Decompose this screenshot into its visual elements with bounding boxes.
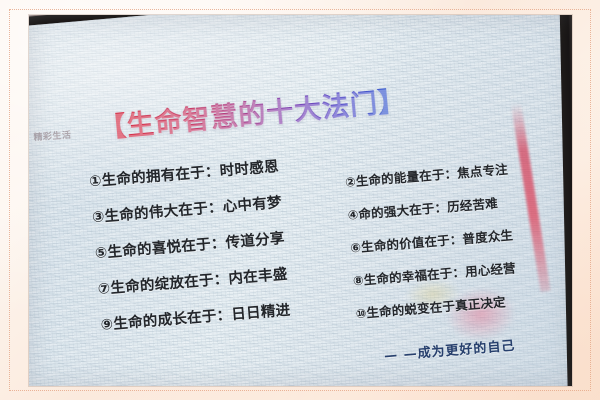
list-item: ⑨生命的成长在于：日日精进	[100, 292, 371, 335]
list-item: ①生命的拥有在于：时时感恩	[88, 149, 359, 192]
slide-title: 【生命智慧的十大法门】	[97, 79, 407, 146]
list-item: ④命的强大在于：历经苦难	[347, 185, 572, 224]
list-item: ⑧生命的幸福在于：用心经营	[352, 250, 572, 289]
list-item: ⑦生命的绽放在于：内在丰盛	[97, 256, 368, 299]
photograph: 精彩生活 【生命智慧的十大法门】 ①生命的拥有在于：时时感恩 ③生命的伟大在于：…	[29, 15, 572, 386]
photo-frame: 精彩生活 【生命智慧的十大法门】 ①生命的拥有在于：时时感恩 ③生命的伟大在于：…	[0, 0, 600, 400]
list-item: ⑤生命的喜悦在于：传道分享	[94, 220, 365, 263]
right-column: ②生命的能量在于：焦点专注 ④命的强大在于：历经苦难 ⑥生命的价值在于：普度众生…	[344, 152, 572, 337]
list-item: ⑥生命的价值在于：普度众生	[350, 217, 572, 256]
list-item: ⑩生命的蜕变在于真正决定	[355, 283, 572, 322]
slide-content: 精彩生活 【生命智慧的十大法门】 ①生命的拥有在于：时时感恩 ③生命的伟大在于：…	[29, 15, 572, 386]
watermark-text: 精彩生活	[33, 128, 72, 143]
list-item: ②生命的能量在于：焦点专注	[344, 152, 572, 191]
list-item: ③生命的伟大在于：心中有梦	[91, 185, 362, 228]
left-column: ①生命的拥有在于：时时感恩 ③生命的伟大在于：心中有梦 ⑤生命的喜悦在于：传道分…	[88, 149, 372, 350]
slide-footer: — —成为更好的自己	[383, 335, 516, 364]
